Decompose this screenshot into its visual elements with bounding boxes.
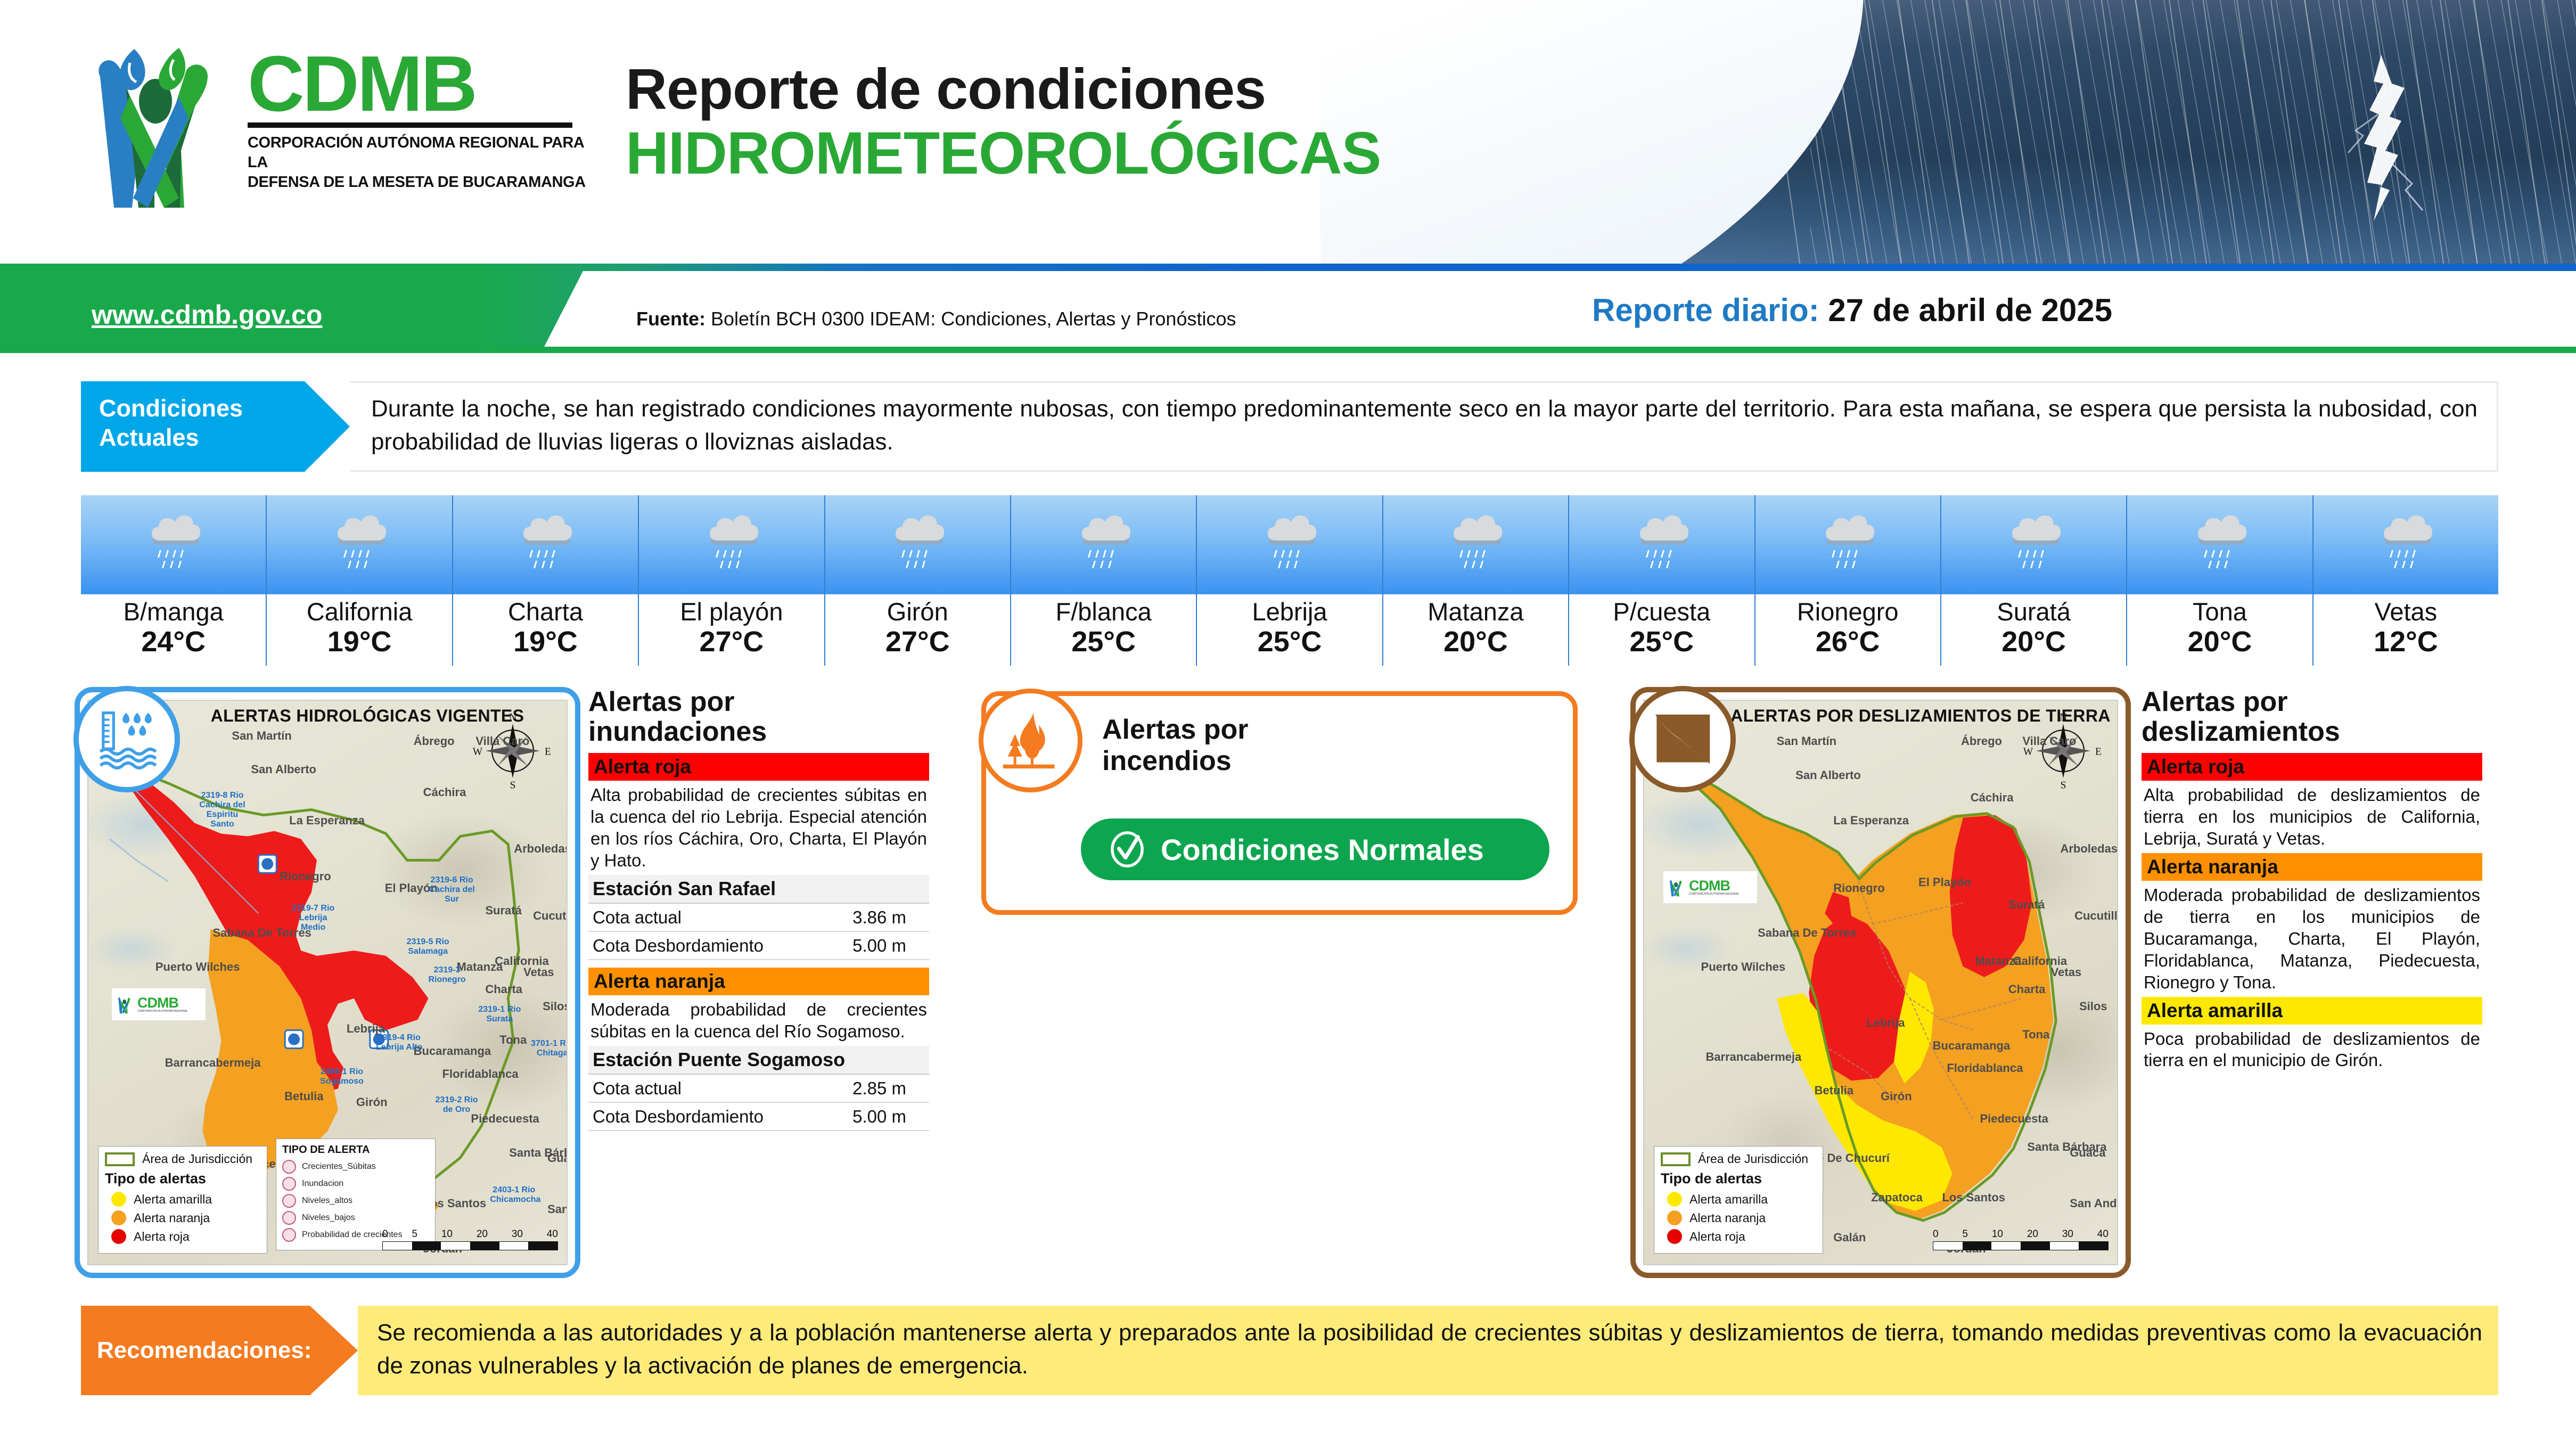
cdmb-logo-mark-icon [75, 38, 240, 209]
landslide-map-card[interactable]: ALERTAS POR DESLIZAMIENTOS DE TIERRA N S… [1630, 687, 2131, 1278]
city-temperature: 19°C [267, 627, 452, 657]
temperature-cell: Vetas12°C [2314, 495, 2498, 666]
city-name: P/cuesta [1569, 599, 1754, 625]
weather-icon-area [1197, 495, 1382, 594]
station-row: Cota actual3.86 m [588, 904, 929, 932]
report-page: CDMB CORPORACIÓN AUTÓNOMA REGIONAL PARA … [0, 0, 2576, 1449]
map-river-label: 2319-3 Rionegro [423, 965, 471, 985]
logo-subtitle-line2: DEFENSA DE LA MESETA DE BUCARAMANGA [248, 173, 607, 192]
legend-item: Alerta naranja [1661, 1210, 1816, 1225]
city-name: Rionegro [1755, 599, 1940, 625]
map-place-label: Betulia [1815, 1084, 1853, 1098]
flood-alerts-heading-line2: inundaciones [588, 717, 929, 747]
alert-type-icon [282, 1177, 296, 1191]
source-label: Fuente: [636, 308, 705, 330]
temperature-cell: Tona20°C [2127, 495, 2313, 666]
map-place-label: Guaca [2070, 1146, 2105, 1160]
city-name: F/blanca [1011, 599, 1196, 625]
map-river-label: 2319-1 Rio Surata [475, 1005, 523, 1024]
scalebar-number: 0 [382, 1229, 388, 1240]
city-name: California [267, 599, 452, 625]
flood-orange-band: Alerta naranja [588, 968, 929, 995]
legend-swatch [1667, 1192, 1682, 1207]
rain-cloud-icon [2188, 507, 2252, 582]
rain-cloud-icon [2374, 507, 2438, 582]
legend-item: Alerta amarilla [105, 1192, 260, 1207]
city-temperature: 27°C [639, 627, 824, 657]
landslide-red-band: Alerta roja [2142, 753, 2482, 781]
fire-alerts-card[interactable]: Alertas por incendios Condiciones Normal… [981, 691, 1578, 915]
temperature-strip: B/manga24°C California19°C Charta19°C El… [81, 495, 2498, 666]
source-note: Fuente: Boletín BCH 0300 IDEAM: Condicio… [636, 308, 1236, 330]
map-place-label: Cucutilla [2074, 909, 2118, 923]
rain-cloud-icon [700, 507, 764, 582]
report-date-block: Reporte diario: 27 de abril de 2025 [1592, 292, 2112, 329]
temperature-cell: Matanza20°C [1383, 495, 1569, 666]
temperature-cell: Suratá20°C [1941, 495, 2127, 666]
legend-swatch [111, 1192, 126, 1207]
weather-icon-area [2314, 495, 2498, 594]
map-place-label: Vetas [2051, 965, 2082, 979]
map-place-label: Arboledas [514, 842, 568, 856]
flood-red-band: Alerta roja [588, 753, 929, 781]
weather-icon-area [825, 495, 1010, 594]
city-name: Lebrija [1197, 599, 1382, 625]
flood-map-canvas[interactable]: ALERTAS HIDROLÓGICAS VIGENTES N S W E Sa… [87, 700, 568, 1265]
scalebar-number: 30 [2062, 1229, 2073, 1240]
map-place-label: Barrancabermeja [165, 1056, 261, 1070]
rain-cloud-icon [327, 507, 391, 582]
rain-cloud-icon [1443, 507, 1507, 582]
rain-cloud-icon [1630, 507, 1694, 582]
map-place-label: Betulia [284, 1090, 323, 1103]
landslide-red-text: Alta probabilidad de deslizamientos de t… [2142, 781, 2482, 853]
cdmb-mini-subtitle: CORPORACIÓN AUTÓNOMA REGIONAL [137, 1010, 188, 1013]
map-place-label: Rionegro [1833, 881, 1885, 895]
landslide-orange-band: Alerta naranja [2142, 853, 2482, 881]
landslide-yellow-text: Poca probabilidad de deslizamientos de t… [2142, 1025, 2482, 1075]
map-place-label: San Martín [232, 729, 291, 743]
landslide-map-canvas[interactable]: ALERTAS POR DESLIZAMIENTOS DE TIERRA N S… [1643, 700, 2118, 1265]
scalebar-number: 10 [1992, 1229, 2003, 1240]
report-date-label: Reporte diario: [1592, 292, 1819, 328]
map-place-label: Cáchira [1971, 791, 2014, 805]
flood-map-badge [73, 686, 180, 792]
forest-fire-icon [998, 708, 1064, 774]
legend-swatch [111, 1229, 126, 1244]
temperature-cell: Rionegro26°C [1755, 495, 1941, 666]
legend-swatch [111, 1210, 126, 1225]
source-text: Boletín BCH 0300 IDEAM: Condiciones, Ale… [711, 308, 1236, 330]
map-place-label: Floridablanca [442, 1067, 519, 1081]
city-temperature: 20°C [1941, 627, 2126, 657]
legend-jurisdiction-row: Área de Jurisdicción [1661, 1152, 1816, 1166]
rain-cloud-icon [1258, 507, 1322, 582]
station-row-label: Cota actual [593, 1078, 682, 1099]
alert-type-icon [282, 1194, 296, 1208]
city-temperature: 27°C [825, 627, 1010, 657]
map-place-label: Bucaramanga [414, 1044, 491, 1058]
rain-cloud-icon [1816, 507, 1880, 582]
flood-orange-text: Moderada probabilidad de crecientes súbi… [588, 995, 929, 1046]
landslide-icon [1648, 705, 1717, 773]
alert-type-label: Niveles_altos [302, 1196, 352, 1206]
flood-map-scalebar: 0510203040 Km [382, 1229, 558, 1250]
alert-type-title: TIPO DE ALERTA [282, 1144, 429, 1156]
city-temperature: 19°C [453, 627, 638, 657]
map-place-label: Villa Caro [2022, 734, 2076, 748]
alert-type-label: Niveles_bajos [302, 1213, 355, 1223]
city-name: Tona [2127, 599, 2312, 625]
map-place-label: San Alberto [251, 763, 316, 776]
legend-item-label: Alerta naranja [1689, 1211, 1766, 1225]
temperature-cell: California19°C [267, 495, 453, 666]
map-place-label: Tona [2022, 1028, 2049, 1042]
scalebar-number: 20 [477, 1229, 488, 1240]
alerts-panels: ALERTAS HIDROLÓGICAS VIGENTES N S W E Sa… [0, 687, 2576, 1283]
map-place-label: Galán [1833, 1231, 1866, 1245]
temperature-cell: F/blanca25°C [1011, 495, 1197, 666]
temperature-cell: Charta19°C [453, 495, 639, 666]
cdmb-mini-logo-icon [116, 994, 134, 1015]
flood-red-text: Alta probabilidad de crecientes súbitas … [588, 781, 929, 875]
fire-alerts-heading: Alertas por incendios [1102, 714, 1249, 777]
legend-item: Alerta amarilla [1661, 1192, 1816, 1207]
info-bar [0, 264, 2576, 349]
map-river-label: 3701-1 Rio Chitaga [528, 1039, 568, 1058]
scalebar-bar [1933, 1241, 2109, 1250]
station-row-value: 5.00 m [852, 936, 925, 956]
weather-icon-area [2127, 495, 2312, 594]
legend-item-label: Alerta amarilla [134, 1192, 212, 1207]
scalebar-bar [382, 1241, 558, 1250]
fire-status-text: Condiciones Normales [1161, 832, 1484, 867]
city-temperature: 25°C [1011, 627, 1196, 657]
station-row: Cota actual2.85 m [588, 1075, 929, 1103]
flood-alerts-column: Alertas por inundaciones Alerta roja Alt… [588, 687, 929, 1131]
legend-item-label: Alerta naranja [134, 1211, 210, 1225]
landslide-alerts-heading-line1: Alertas por [2142, 687, 2482, 717]
weather-icon-area [453, 495, 638, 594]
weather-icon-area [1011, 495, 1196, 594]
weather-icon-area [639, 495, 824, 594]
landslide-map-badge [1629, 686, 1736, 792]
map-place-label: Piedecuesta [471, 1112, 539, 1126]
scalebar-number: 40 [2097, 1229, 2109, 1240]
city-name: Charta [453, 599, 638, 625]
scalebar-number: 5 [412, 1229, 417, 1240]
map-place-label: Cucutilla [533, 909, 568, 923]
flood-alerts-heading-line1: Alertas por [588, 687, 929, 717]
map-place-label: Los Santos [1942, 1191, 2005, 1205]
map-place-label: Lebrija [1866, 1016, 1905, 1030]
city-name: El playón [639, 599, 824, 625]
city-temperature: 20°C [1383, 627, 1568, 657]
city-name: Vetas [2314, 599, 2498, 625]
flood-alerts-heading: Alertas por inundaciones [588, 687, 929, 747]
map-river-label: 2406-1 Rio Sogamoso [318, 1067, 366, 1086]
map-place-label: Puerto Wilches [155, 960, 240, 974]
legend-item: Alerta roja [105, 1229, 260, 1244]
weather-icon-area [267, 495, 452, 594]
fire-alerts-heading-line1: Alertas por [1102, 714, 1249, 746]
report-date-value: 27 de abril de 2025 [1828, 292, 2112, 328]
legend-item-label: Alerta roja [134, 1230, 190, 1244]
station-row: Cota Desbordamiento5.00 m [588, 1103, 929, 1131]
flood-map-cdmb-watermark: CDMB CORPORACIÓN AUTÓNOMA REGIONAL [112, 988, 206, 1020]
city-name: Girón [825, 599, 1010, 625]
map-place-label: San Andrés [547, 1202, 568, 1216]
landslide-alerts-heading: Alertas por deslizamientos [2142, 687, 2482, 747]
weather-icon-area [1755, 495, 1940, 594]
landslide-map-cdmb-watermark: CDMB CORPORACIÓN AUTÓNOMA REGIONAL [1663, 871, 1757, 903]
rain-cloud-icon [885, 507, 949, 582]
map-place-label: Vetas [523, 965, 554, 979]
map-place-label: Girón [1881, 1090, 1912, 1103]
scalebar-number: 30 [512, 1229, 523, 1240]
current-conditions-tag-line2: Actuales [99, 423, 350, 453]
flood-map-card[interactable]: ALERTAS HIDROLÓGICAS VIGENTES N S W E Sa… [75, 687, 580, 1278]
scalebar-number: 0 [1933, 1229, 1939, 1240]
legend-item: Alerta roja [1661, 1229, 1816, 1244]
station-row-label: Cota actual [593, 907, 682, 928]
cdmb-mini-logo-icon [1667, 877, 1685, 898]
city-temperature: 26°C [1755, 627, 1940, 657]
city-name: Suratá [1941, 599, 2126, 625]
temperature-cell: Lebrija25°C [1197, 495, 1383, 666]
recommendations-section: Recomendaciones: Se recomienda a las aut… [81, 1306, 2498, 1395]
map-place-label: Arboledas [2060, 842, 2118, 856]
alert-type-label: Crecientes_Súbitas [302, 1162, 376, 1172]
map-place-label: El Playón [1918, 875, 1971, 889]
cdmb-mini-subtitle: CORPORACIÓN AUTÓNOMA REGIONAL [1689, 893, 1740, 896]
jurisdiction-label: Área de Jurisdicción [142, 1152, 252, 1166]
map-place-label: La Esperanza [289, 814, 365, 828]
map-place-label: Charta [485, 983, 522, 996]
map-place-label: San Andrés [2070, 1197, 2118, 1210]
scalebar-number: 5 [1962, 1229, 1968, 1240]
map-place-label: Cáchira [423, 785, 466, 799]
rain-cloud-icon [513, 507, 577, 582]
temperature-cell: B/manga24°C [81, 495, 267, 666]
fire-status-badge: Condiciones Normales [1081, 818, 1549, 880]
map-river-label: 2319-7 Rio Lebrija Medio [289, 904, 337, 932]
header-title-block: Reporte de condiciones HIDROMETEOROLÓGIC… [626, 59, 1381, 185]
alert-type-icon [282, 1211, 296, 1225]
legend-title: Tipo de alertas [1661, 1170, 1816, 1187]
water-level-gauge-icon [92, 705, 161, 774]
map-place-label: Suratá [2008, 898, 2045, 912]
recommendations-tag: Recomendaciones: [81, 1306, 358, 1395]
scalebar-number: 10 [441, 1229, 453, 1240]
scalebar-number: 40 [547, 1229, 558, 1240]
logo-acronym: CDMB [248, 48, 607, 120]
landslide-alerts-column: Alertas por deslizamientos Alerta roja A… [2142, 687, 2482, 1075]
map-place-label: La Esperanza [1833, 814, 1909, 828]
legend-swatch [1667, 1229, 1682, 1244]
weather-icon-area [1941, 495, 2126, 594]
legend-item-label: Alerta roja [1689, 1230, 1745, 1244]
flood-map-legend: Área de Jurisdicción Tipo de alertas Ale… [98, 1146, 267, 1254]
current-conditions-section: Condiciones Actuales Durante la noche, s… [81, 381, 2498, 472]
map-place-label: Guaca [547, 1151, 568, 1165]
jurisdiction-swatch [1661, 1152, 1691, 1166]
fire-alerts-badge [979, 689, 1082, 792]
alert-type-item: Niveles_altos [282, 1194, 429, 1208]
landslide-orange-text: Moderada probabilidad de deslizamientos … [2142, 881, 2482, 997]
cdmb-logo: CDMB CORPORACIÓN AUTÓNOMA REGIONAL PARA … [75, 38, 607, 214]
map-place-label: Barrancabermeja [1705, 1050, 1801, 1064]
map-place-label: Charta [2008, 983, 2046, 996]
rain-cloud-icon [2002, 507, 2066, 582]
map-place-label: Ábrego [1961, 734, 2002, 748]
flood-red-station: Estación San Rafael [588, 875, 929, 904]
city-name: Matanza [1383, 599, 1568, 625]
temperature-cell: P/cuesta25°C [1569, 495, 1755, 666]
rain-cloud-icon [142, 507, 206, 582]
city-temperature: 25°C [1197, 627, 1382, 657]
alert-type-item: Crecientes_Súbitas [282, 1160, 429, 1174]
jurisdiction-label: Área de Jurisdicción [1698, 1152, 1808, 1166]
landslide-yellow-band: Alerta amarilla [2142, 997, 2482, 1025]
legend-jurisdiction-row: Área de Jurisdicción [105, 1152, 260, 1166]
map-river-label: 2403-1 Rio Chicamocha [490, 1185, 538, 1205]
alert-type-icon [282, 1228, 296, 1242]
cdmb-mini-label: CDMB [1689, 879, 1740, 893]
current-conditions-tag-line1: Condiciones [99, 394, 350, 423]
map-river-label: 2319-5 Rio Salamaga [404, 937, 452, 956]
fire-alerts-heading-line2: incendios [1102, 746, 1249, 777]
station-row-value: 2.85 m [852, 1078, 925, 1099]
weather-icon-area [1569, 495, 1754, 594]
rain-cloud-icon [1072, 507, 1136, 582]
logo-subtitle-line1: CORPORACIÓN AUTÓNOMA REGIONAL PARA LA [248, 133, 607, 173]
alert-type-icon [282, 1160, 296, 1174]
page-subtitle: HIDROMETEOROLÓGICAS [626, 122, 1381, 185]
map-place-label: Sabana De Torres [1758, 926, 1856, 940]
station-row-label: Cota Desbordamiento [593, 936, 764, 956]
map-place-label: San Martín [1777, 734, 1836, 748]
map-place-label: Girón [356, 1095, 388, 1109]
landslide-alerts-heading-line2: deslizamientos [2142, 717, 2482, 747]
city-name: B/manga [81, 599, 266, 625]
temperature-cell: Girón27°C [825, 495, 1011, 666]
legend-swatch [1667, 1210, 1682, 1225]
map-river-label: 2319-2 Rio de Oro [433, 1095, 481, 1115]
page-title: Reporte de condiciones [626, 59, 1381, 119]
jurisdiction-swatch [105, 1152, 135, 1166]
map-place-label: Bucaramanga [1933, 1039, 2011, 1053]
map-place-label: Puerto Wilches [1701, 960, 1786, 974]
rain-streaks-secondary [1784, 0, 2576, 264]
flood-orange-station: Estación Puente Sogamoso [588, 1046, 929, 1075]
current-conditions-text: Durante la noche, se han registrado cond… [350, 381, 2498, 472]
weather-icon-area [81, 495, 266, 594]
city-temperature: 24°C [81, 627, 266, 657]
map-place-label: Zapatoca [1871, 1191, 1923, 1205]
map-place-label: Suratá [485, 904, 521, 918]
legend-item: Alerta naranja [105, 1210, 260, 1225]
city-temperature: 12°C [2314, 627, 2498, 657]
map-place-label: Rionegro [280, 870, 331, 883]
scalebar-number: 20 [2027, 1229, 2038, 1240]
lightning-bolt-icon [2332, 51, 2455, 264]
cdmb-mini-label: CDMB [137, 996, 188, 1010]
temperature-cell: El playón27°C [639, 495, 825, 666]
map-place-label: San Alberto [1795, 768, 1861, 782]
station-row-value: 3.86 m [852, 907, 925, 928]
map-place-label: Floridablanca [1947, 1061, 2023, 1075]
alert-type-item: Niveles_bajos [282, 1211, 429, 1225]
map-river-label: 2319-8 Rio Cachira del Espiritu Santo [199, 791, 247, 829]
recommendations-text: Se recomienda a las autoridades y a la p… [358, 1306, 2498, 1395]
map-place-label: Ábrego [414, 734, 455, 748]
alert-type-item: Inundacion [282, 1177, 429, 1191]
map-river-label: 2319-4 Rio Lebrija Alto [375, 1033, 423, 1052]
check-circle-icon [1106, 829, 1148, 870]
legend-item-label: Alerta amarilla [1689, 1192, 1768, 1207]
landslide-map-scalebar: 0510203040 Km [1933, 1229, 2109, 1250]
weather-icon-area [1383, 495, 1568, 594]
legend-title: Tipo de alertas [105, 1170, 260, 1187]
landslide-map-legend: Área de Jurisdicción Tipo de alertas Ale… [1654, 1146, 1823, 1254]
website-link[interactable]: www.cdmb.gov.co [92, 299, 322, 330]
info-bar-underline [0, 347, 2576, 353]
map-place-label: Silos [543, 1000, 568, 1013]
page-header: CDMB CORPORACIÓN AUTÓNOMA REGIONAL PARA … [0, 0, 2576, 264]
station-row: Cota Desbordamiento5.00 m [588, 932, 929, 960]
map-place-label: Silos [2079, 1000, 2107, 1013]
map-place-label: Piedecuesta [1980, 1112, 2048, 1126]
map-river-label: 2319-6 Rio Cachira del Sur [428, 875, 476, 904]
map-place-label: Tona [499, 1033, 527, 1047]
city-temperature: 20°C [2127, 627, 2312, 657]
map-place-label: Villa Caro [475, 734, 529, 748]
current-conditions-tag: Condiciones Actuales [81, 381, 350, 472]
city-temperature: 25°C [1569, 627, 1754, 657]
alert-type-label: Inundacion [302, 1179, 343, 1189]
station-row-label: Cota Desbordamiento [593, 1107, 764, 1127]
station-row-value: 5.00 m [852, 1107, 925, 1127]
